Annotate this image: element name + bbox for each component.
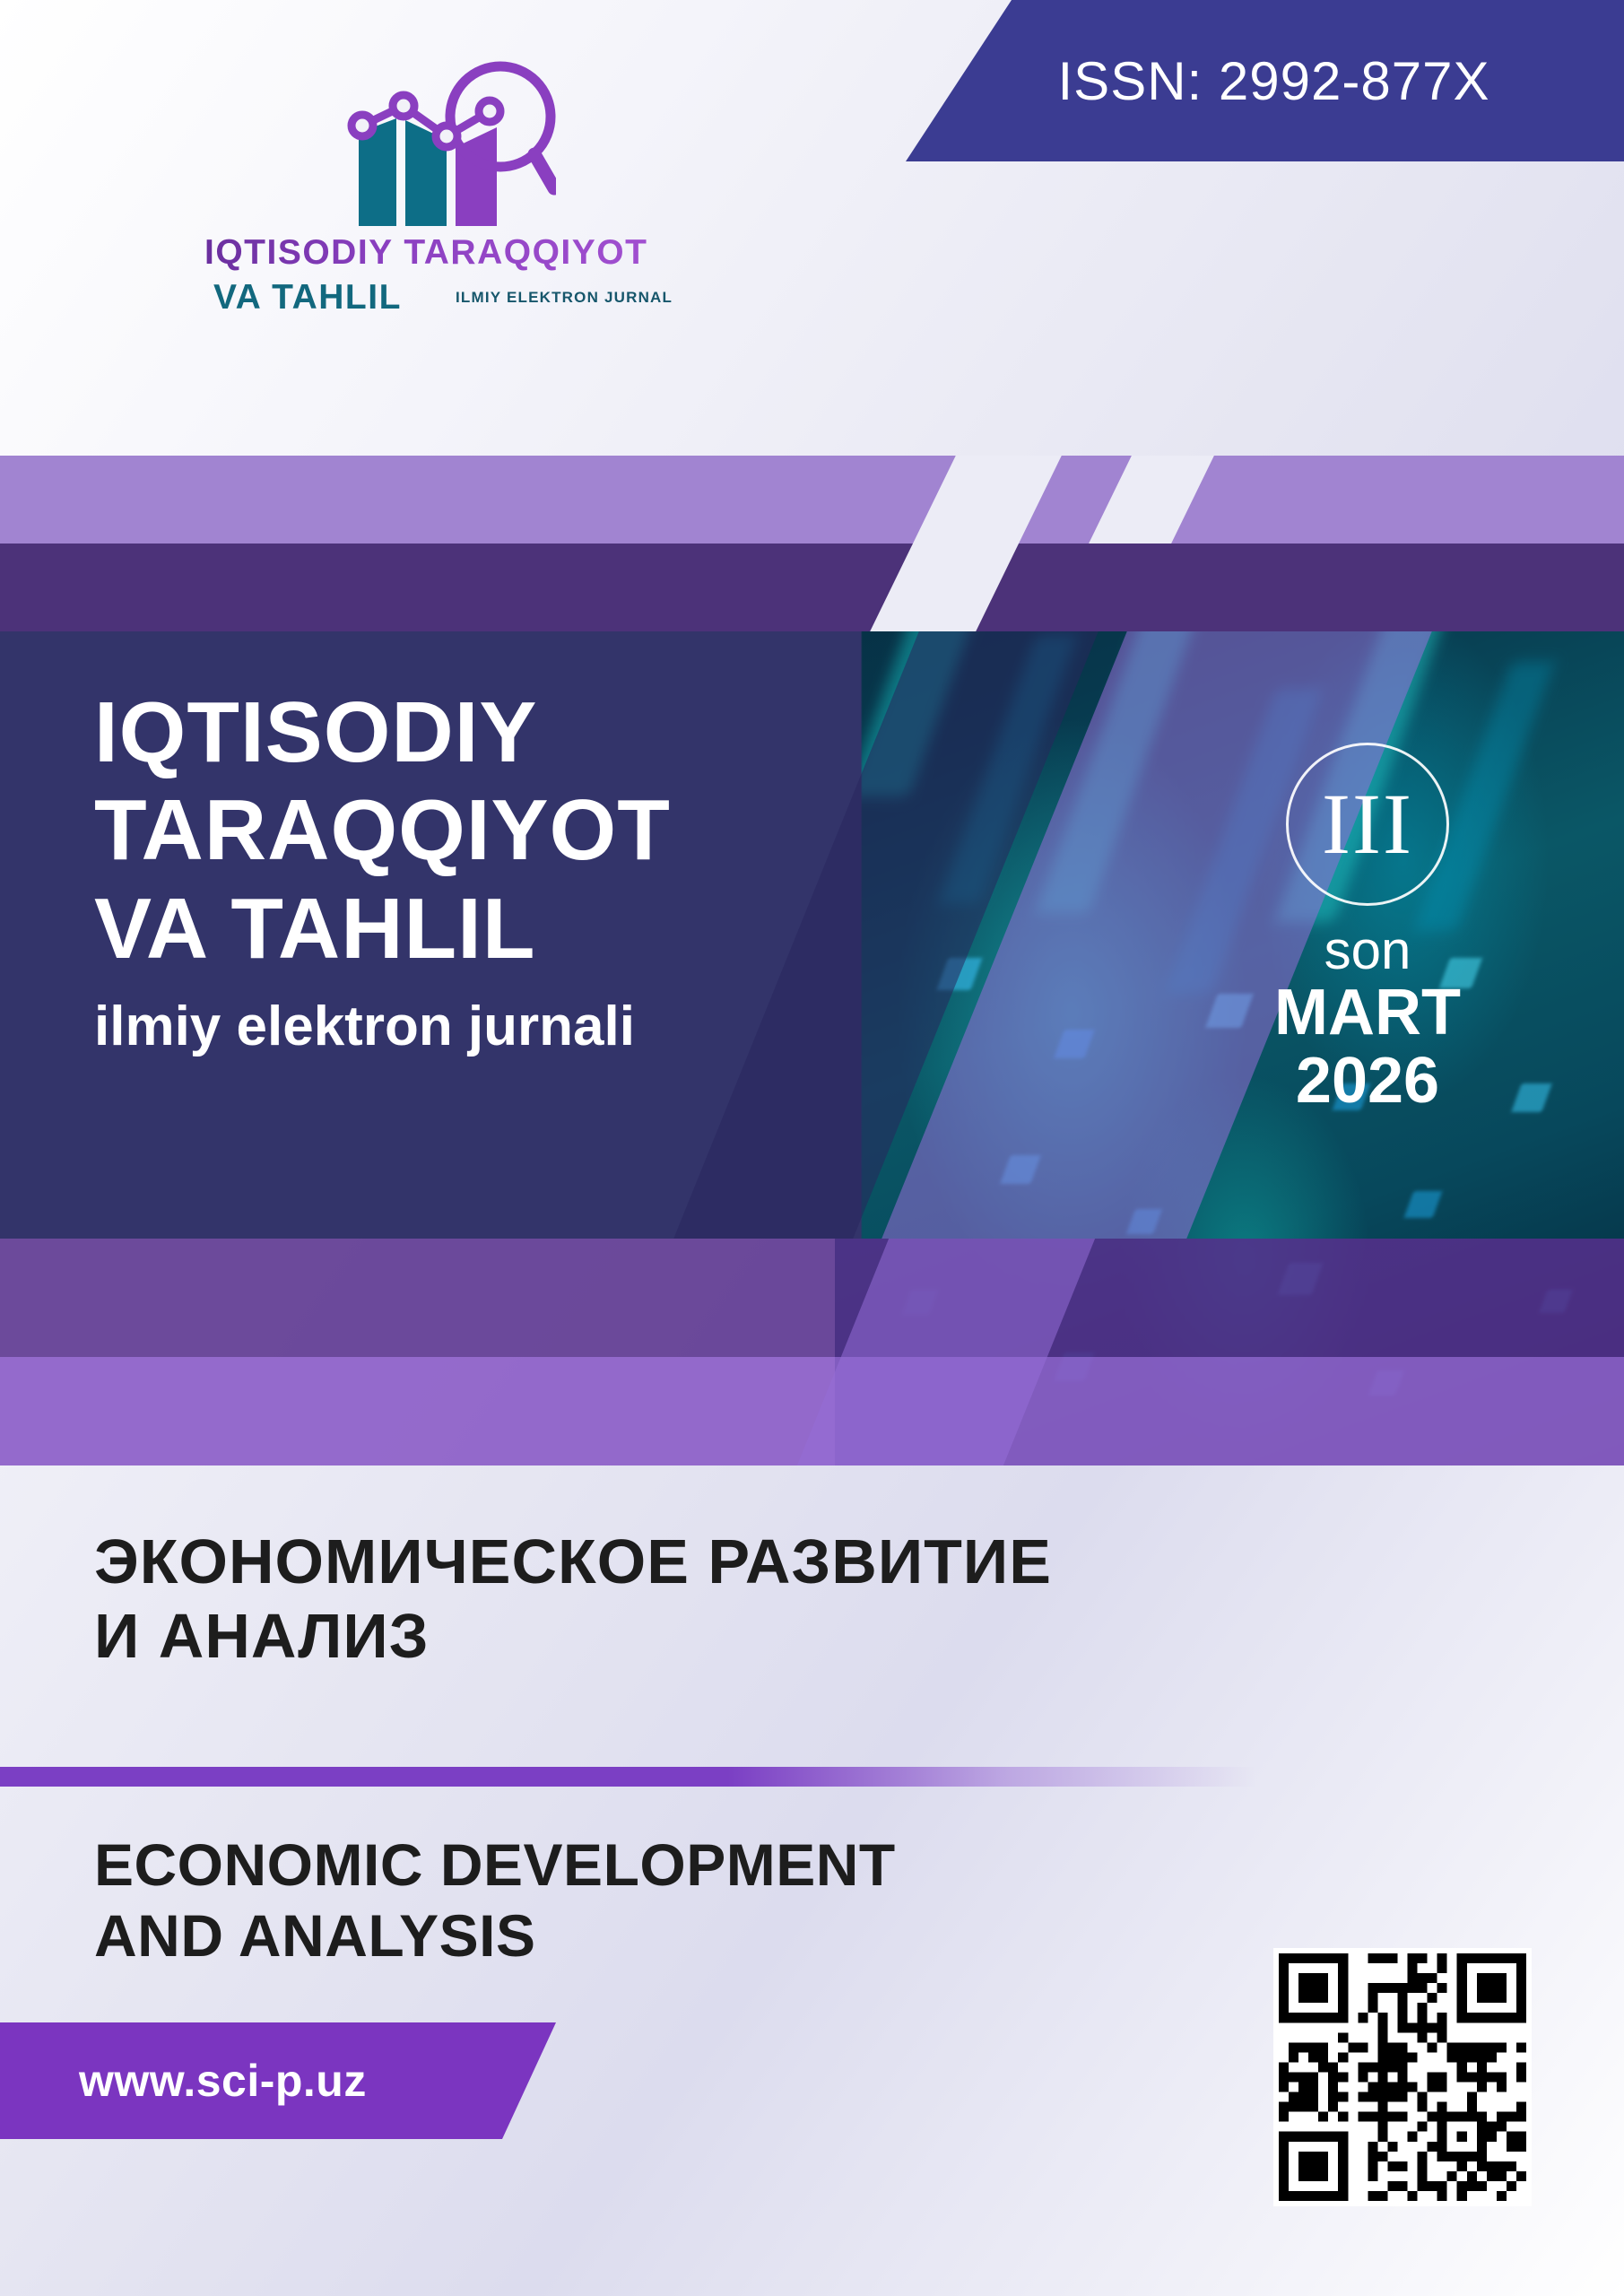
issue-year: 2026: [1233, 1047, 1502, 1115]
qr-code[interactable]: [1273, 1948, 1532, 2206]
russian-title-line2: И АНАЛИЗ: [94, 1599, 1394, 1674]
journal-cover: ISSN: 2992-877X IQTISODIY TARAQQIYOT: [0, 0, 1624, 2296]
logo-title-line2: VA TAHLIL: [213, 278, 402, 317]
journal-logo: IQTISODIY TARAQQIYOT VA TAHLIL ILMIY ELE…: [179, 54, 556, 359]
logo-tagline: ILMIY ELEKTRON JURNAL: [456, 289, 673, 307]
hero-title-block: IQTISODIY TARAQQIYOT VA TAHLIL ilmiy ele…: [94, 683, 671, 1061]
hero-title-line1: IQTISODIY: [94, 683, 671, 781]
english-title-line1: ECONOMIC DEVELOPMENT: [94, 1830, 1394, 1900]
issue-number-label: son: [1233, 922, 1502, 978]
russian-title-block: ЭКОНОМИЧЕСКОЕ РАЗВИТИЕ И АНАЛИЗ: [94, 1525, 1394, 1674]
bar-chart-magnifier-logo-icon: [341, 54, 556, 229]
issue-month: MART: [1233, 978, 1502, 1047]
hero-section: 0 10 0 10 1 0 0 10 1 0 0 10 1 0 0 10 1 0…: [0, 456, 1624, 1465]
issue-badge: III son MART 2026: [1233, 743, 1502, 1116]
website-url-text: www.sci-p.uz: [79, 2055, 367, 2107]
issn-banner: ISSN: 2992-877X: [906, 0, 1624, 161]
russian-title-line1: ЭКОНОМИЧЕСКОЕ РАЗВИТИЕ: [94, 1525, 1394, 1599]
band-deep-purple-top: [0, 544, 1624, 631]
issue-number: III: [1322, 781, 1413, 867]
english-title-block: ECONOMIC DEVELOPMENT AND ANALYSIS: [94, 1830, 1394, 1971]
hero-title-line3: VA TAHLIL: [94, 880, 671, 978]
logo-title-line1: IQTISODIY TARAQQIYOT: [204, 233, 647, 273]
english-title-line2: AND ANALYSIS: [94, 1900, 1394, 1971]
issue-number-circle: III: [1286, 743, 1449, 906]
website-url-badge[interactable]: www.sci-p.uz: [0, 2022, 556, 2139]
hero-title-line2: TARAQQIYOT: [94, 781, 671, 879]
issn-text: ISSN: 2992-877X: [1058, 50, 1490, 112]
band-right-notch: [1333, 1239, 1624, 1357]
band-light-purple-top: [0, 456, 1624, 544]
section-divider: [0, 1767, 1255, 1787]
hero-subtitle: ilmiy elektron jurnali: [94, 994, 671, 1060]
